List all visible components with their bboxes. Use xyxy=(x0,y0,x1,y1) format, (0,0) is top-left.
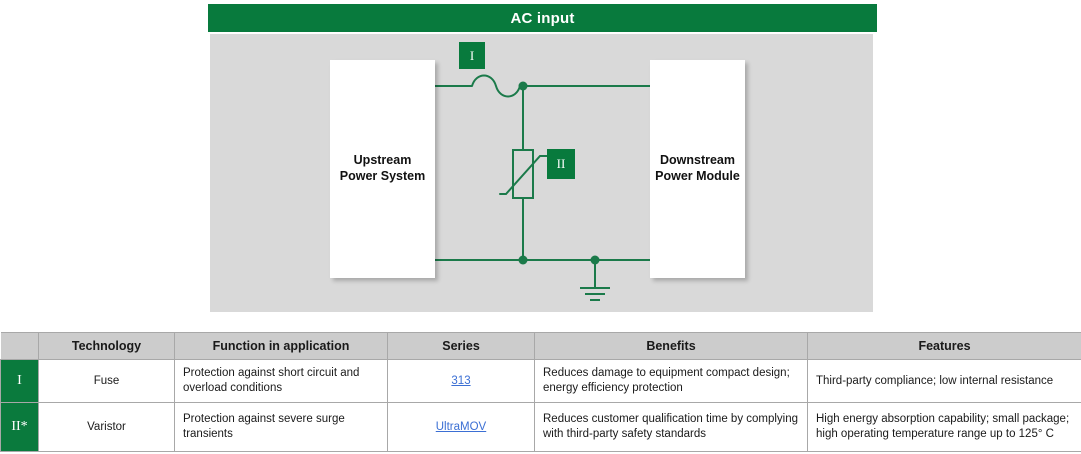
upstream-label-line2: Power System xyxy=(340,169,425,185)
table-header-series: Series xyxy=(388,333,535,360)
circuit-diagram-canvas: Upstream Power System Downstream Power M… xyxy=(210,34,873,312)
row-benefits: Reduces damage to equipment compact desi… xyxy=(535,360,808,403)
row-ref-badge: II* xyxy=(1,403,39,452)
junction-node-top xyxy=(519,82,528,91)
varistor-diagonal xyxy=(500,156,547,194)
table-header-benefits: Benefits xyxy=(535,333,808,360)
table-row: I Fuse Protection against short circuit … xyxy=(1,360,1081,403)
row-technology: Varistor xyxy=(39,403,175,452)
row-features: Third-party compliance; low internal res… xyxy=(808,360,1081,403)
table-header-row: Technology Function in application Serie… xyxy=(1,333,1081,360)
row-features: High energy absorption capability; small… xyxy=(808,403,1081,452)
diagram-section: AC input xyxy=(0,0,1081,320)
downstream-label-line2: Power Module xyxy=(655,169,740,185)
protection-spec-table: Technology Function in application Serie… xyxy=(0,332,1081,452)
row-ref-badge: I xyxy=(1,360,39,403)
junction-node-ground xyxy=(591,256,600,265)
row-series: UltraMOV xyxy=(388,403,535,452)
series-link-313[interactable]: 313 xyxy=(451,375,470,387)
upstream-label-line1: Upstream xyxy=(340,153,425,169)
downstream-power-module-block: Downstream Power Module xyxy=(650,60,745,278)
series-link-ultramov[interactable]: UltraMOV xyxy=(436,421,486,433)
reference-badge-varistor: II xyxy=(547,149,575,179)
table-row: II* Varistor Protection against severe s… xyxy=(1,403,1081,452)
table-header-corner xyxy=(1,333,39,360)
diagram-title: AC input xyxy=(510,10,574,27)
junction-node-bottom xyxy=(519,256,528,265)
row-function: Protection against short circuit and ove… xyxy=(175,360,388,403)
reference-badge-fuse: I xyxy=(459,42,485,69)
row-function: Protection against severe surge transien… xyxy=(175,403,388,452)
row-series: 313 xyxy=(388,360,535,403)
table-header-function: Function in application xyxy=(175,333,388,360)
diagram-title-bar: AC input xyxy=(208,4,877,32)
circuit-schematic-svg xyxy=(210,34,873,312)
reference-badge-fuse-label: I xyxy=(470,48,474,64)
table-header-technology: Technology xyxy=(39,333,175,360)
reference-badge-varistor-label: II xyxy=(557,156,566,172)
fuse-symbol xyxy=(472,76,520,97)
downstream-label-line1: Downstream xyxy=(655,153,740,169)
table-header-features: Features xyxy=(808,333,1081,360)
upstream-power-system-block: Upstream Power System xyxy=(330,60,435,278)
row-technology: Fuse xyxy=(39,360,175,403)
row-benefits: Reduces customer qualification time by c… xyxy=(535,403,808,452)
